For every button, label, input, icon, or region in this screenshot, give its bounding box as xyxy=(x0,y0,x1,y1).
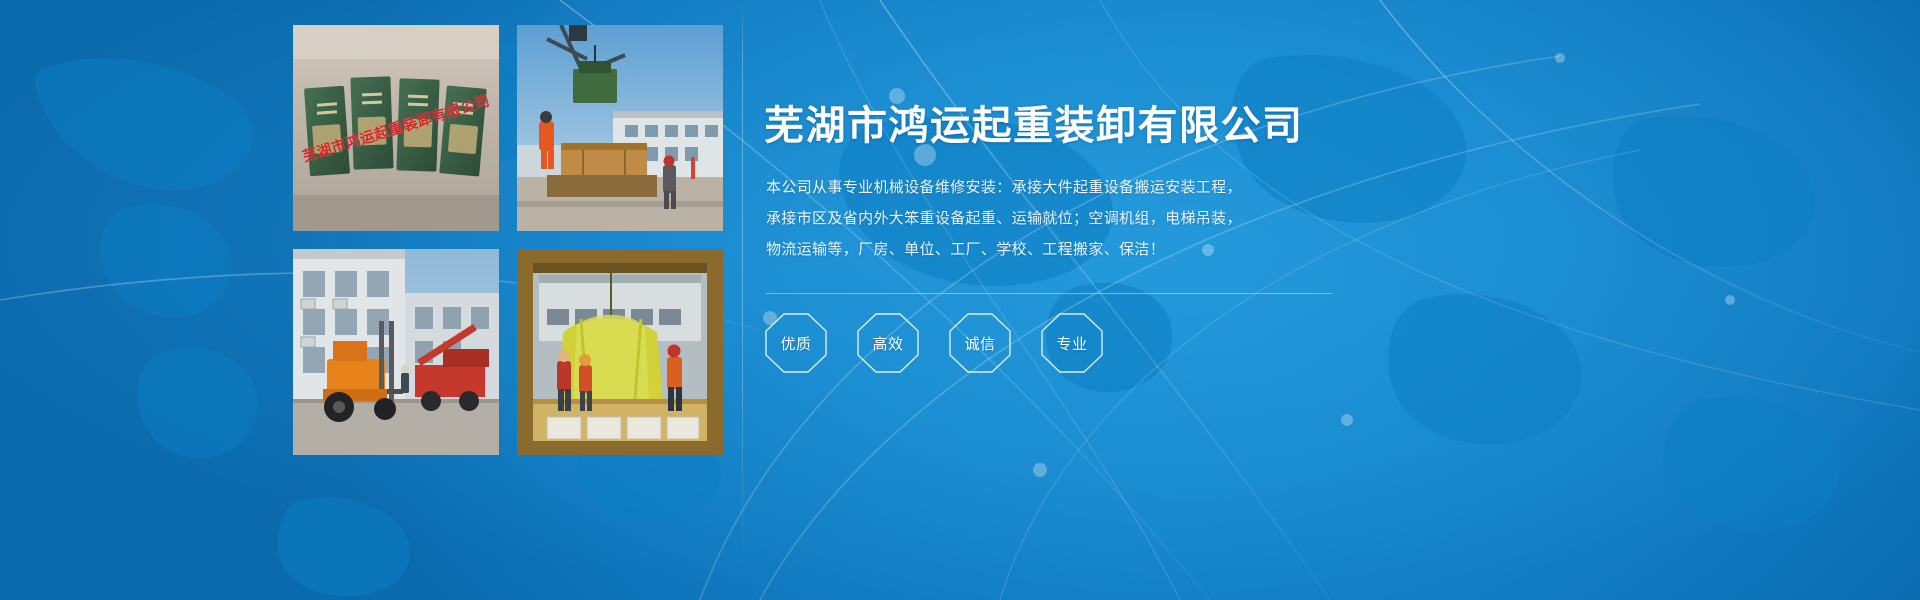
company-description: 本公司从事专业机械设备维修安装：承接大件起重设备搬运安装工程， 承接市区及省内外… xyxy=(766,172,1326,265)
photo-crane-lifting[interactable] xyxy=(517,25,723,231)
company-title: 芜湖市鸿运起重装卸有限公司 xyxy=(764,104,1304,148)
badge-label: 高效 xyxy=(872,333,903,354)
badge-label: 专业 xyxy=(1056,333,1087,354)
photo-container-loading[interactable] xyxy=(517,249,723,455)
badge-integrity[interactable]: 诚信 xyxy=(948,312,1012,374)
badge-label: 优质 xyxy=(780,333,811,354)
photo-forklift[interactable] xyxy=(293,249,499,455)
photo-crane-lifting-image xyxy=(517,25,723,231)
company-hero-banner: 芜湖市鸿运起重装卸有限公司 xyxy=(0,0,1920,600)
feature-badges: 优质 高效 诚信 专业 xyxy=(764,312,1104,374)
vertical-divider xyxy=(742,0,743,600)
description-line-2: 承接市区及省内外大笨重设备起重、运输就位；空调机组，电梯吊装， xyxy=(766,203,1326,234)
badge-efficiency[interactable]: 高效 xyxy=(856,312,920,374)
photo-gallery-grid: 芜湖市鸿运起重装卸有限公司 xyxy=(293,25,723,460)
company-info-panel: 芜湖市鸿运起重装卸有限公司 本公司从事专业机械设备维修安装：承接大件起重设备搬运… xyxy=(764,0,1864,600)
photo-forklift-image xyxy=(293,249,499,455)
photo-container-loading-image xyxy=(517,249,723,455)
badge-quality[interactable]: 优质 xyxy=(764,312,828,374)
badge-professional[interactable]: 专业 xyxy=(1040,312,1104,374)
badge-label: 诚信 xyxy=(964,333,995,354)
photo-certificates[interactable]: 芜湖市鸿运起重装卸有限公司 xyxy=(293,25,499,231)
section-divider xyxy=(766,293,1332,294)
description-line-1: 本公司从事专业机械设备维修安装：承接大件起重设备搬运安装工程， xyxy=(766,172,1326,203)
description-line-3: 物流运输等，厂房、单位、工厂、学校、工程搬家、保洁！ xyxy=(766,234,1326,265)
